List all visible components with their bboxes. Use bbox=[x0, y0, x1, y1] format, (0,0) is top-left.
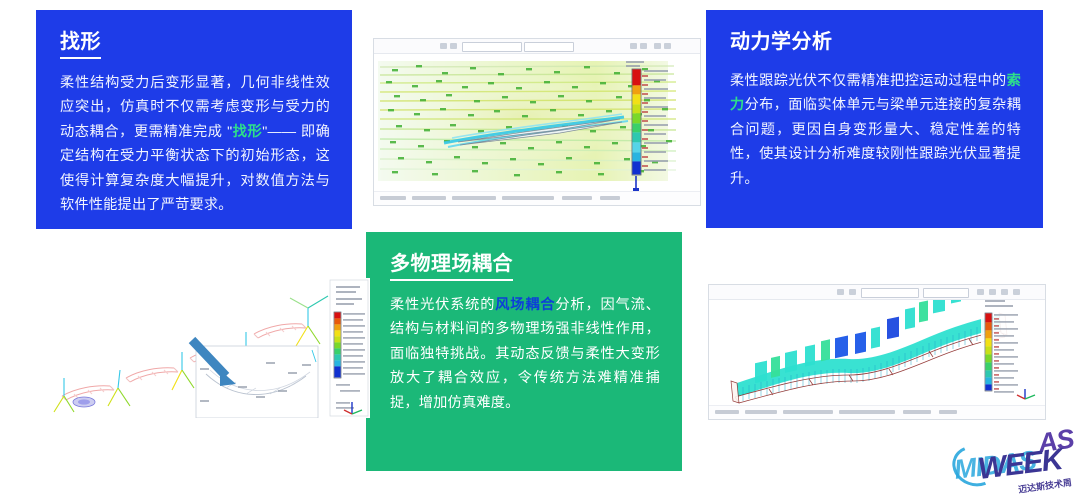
toolbar-icon[interactable] bbox=[440, 43, 447, 49]
toolbar-icon[interactable] bbox=[450, 43, 457, 49]
step-selector-dropdown[interactable] bbox=[524, 42, 574, 52]
body-text-post: 分析，因气流、结构与材料间的多物理场强非线性作用，面临独特挑战。其动态反馈与柔性… bbox=[390, 297, 660, 411]
body-text-pre: 柔性跟踪光伏不仅需精准把控运动过程中的 bbox=[730, 73, 1007, 89]
deformation-contour-plot bbox=[709, 285, 1045, 419]
toolbar-icon[interactable] bbox=[849, 289, 856, 295]
status-text bbox=[939, 410, 957, 414]
toolbar-icon[interactable] bbox=[837, 289, 844, 295]
status-text bbox=[502, 196, 554, 200]
body-text-pre: 柔性光伏系统的 bbox=[390, 297, 495, 313]
figure-cable-structure-wireframe bbox=[40, 278, 370, 418]
deform-colorbar bbox=[981, 293, 1039, 405]
cfd-toolbar[interactable] bbox=[374, 39, 700, 54]
cfd-statusbar bbox=[374, 191, 700, 205]
card-dynamics-analysis-title: 动力学分析 bbox=[730, 30, 833, 57]
midas-week-logo: MIDAS AS WEEK 迈达斯技术周 bbox=[952, 420, 1078, 496]
status-text bbox=[412, 196, 446, 200]
toolbar-icon[interactable] bbox=[977, 289, 984, 295]
step-selector-dropdown[interactable] bbox=[923, 288, 969, 298]
toolbar-icon[interactable] bbox=[640, 43, 647, 49]
highlight-term: 找形 bbox=[232, 124, 262, 140]
figure-structural-deformation-contour bbox=[708, 284, 1046, 420]
status-text bbox=[715, 410, 739, 414]
result-selector-dropdown[interactable] bbox=[861, 288, 919, 298]
body-text-post: 分布，面临实体单元与梁单元连接的复杂耦合问题，更因自身变形量大、稳定性差的特性，… bbox=[730, 97, 1021, 186]
card-shape-finding-body: 柔性结构受力后变形显著，几何非线性效应突出，仿真时不仅需考虑变形与受力的动态耦合… bbox=[60, 71, 330, 218]
toolbar-icon[interactable] bbox=[664, 43, 671, 49]
toolbar-icon[interactable] bbox=[989, 289, 996, 295]
toolbar-icon[interactable] bbox=[1013, 289, 1020, 295]
detail-inset-panel bbox=[196, 346, 318, 418]
status-text bbox=[903, 410, 931, 414]
card-multiphysics-coupling-body: 柔性光伏系统的风场耦合分析，因气流、结构与材料间的多物理场强非线性作用，面临独特… bbox=[390, 293, 660, 415]
status-text bbox=[839, 410, 895, 414]
card-shape-finding-title: 找形 bbox=[60, 30, 101, 59]
figure-wind-flow-velocity-field bbox=[373, 38, 701, 206]
card-dynamics-analysis: 动力学分析 柔性跟踪光伏不仅需精准把控运动过程中的索力分布，面临实体单元与梁单元… bbox=[706, 10, 1043, 228]
logo-artwork: MIDAS AS WEEK 迈达斯技术周 bbox=[952, 420, 1078, 496]
wind-flow-plot bbox=[374, 39, 700, 205]
status-text bbox=[562, 196, 592, 200]
status-text bbox=[380, 196, 406, 200]
card-multiphysics-coupling-title: 多物理场耦合 bbox=[390, 252, 513, 281]
cable-colorbar bbox=[330, 280, 368, 416]
toolbar-icon[interactable] bbox=[1001, 289, 1008, 295]
toolbar-icon[interactable] bbox=[654, 43, 661, 49]
card-shape-finding: 找形 柔性结构受力后变形显著，几何非线性效应突出，仿真时不仅需考虑变形与受力的动… bbox=[36, 10, 352, 229]
status-text bbox=[783, 410, 833, 414]
deform-toolbar[interactable] bbox=[709, 285, 1045, 300]
slide-canvas: 找形 柔性结构受力后变形显著，几何非线性效应突出，仿真时不仅需考虑变形与受力的动… bbox=[0, 0, 1080, 499]
deform-statusbar bbox=[709, 405, 1045, 419]
status-text bbox=[745, 410, 777, 414]
cable-structure-plot bbox=[40, 278, 370, 418]
highlight-term: 风场耦合 bbox=[495, 297, 555, 313]
view-selector-dropdown[interactable] bbox=[462, 42, 522, 52]
card-dynamics-analysis-body: 柔性跟踪光伏不仅需精准把控运动过程中的索力分布，面临实体单元与梁单元连接的复杂耦… bbox=[730, 69, 1021, 191]
card-multiphysics-coupling: 多物理场耦合 柔性光伏系统的风场耦合分析，因气流、结构与材料间的多物理场强非线性… bbox=[366, 232, 682, 471]
status-text bbox=[600, 196, 620, 200]
toolbar-icon[interactable] bbox=[630, 43, 637, 49]
status-text bbox=[452, 196, 496, 200]
